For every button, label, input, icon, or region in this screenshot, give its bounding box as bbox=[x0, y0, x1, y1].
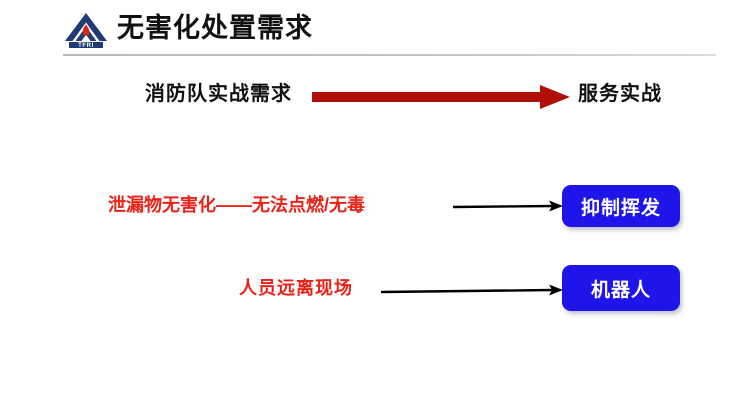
row-1-right-label: 服务实战 bbox=[578, 83, 662, 105]
row-2-blue-box-label: 抑制挥发 bbox=[581, 193, 661, 220]
slide-canvas: TFRI 无害化处置需求 消防队实战需求 服务实战 泄漏物无害化——无法点燃/无… bbox=[0, 0, 744, 419]
header-divider bbox=[63, 54, 716, 56]
row-2-blue-box[interactable]: 抑制挥发 bbox=[562, 185, 680, 227]
svg-text:TFRI: TFRI bbox=[78, 43, 94, 49]
page-title: 无害化处置需求 bbox=[117, 11, 313, 45]
black-arrow-icon-row-2 bbox=[453, 198, 563, 214]
row-3-left-label: 人员远离现场 bbox=[239, 279, 353, 299]
row-2-left-label: 泄漏物无害化——无法点燃/无毒 bbox=[108, 196, 365, 216]
row-3-blue-box-label: 机器人 bbox=[591, 275, 651, 302]
row-3-blue-box[interactable]: 机器人 bbox=[562, 265, 680, 311]
row-1-left-label: 消防队实战需求 bbox=[145, 83, 292, 105]
tfri-logo: TFRI bbox=[62, 11, 110, 49]
red-block-arrow-icon bbox=[312, 84, 570, 110]
black-arrow-icon-row-3 bbox=[381, 282, 563, 298]
slide-header: TFRI 无害化处置需求 bbox=[0, 0, 744, 58]
